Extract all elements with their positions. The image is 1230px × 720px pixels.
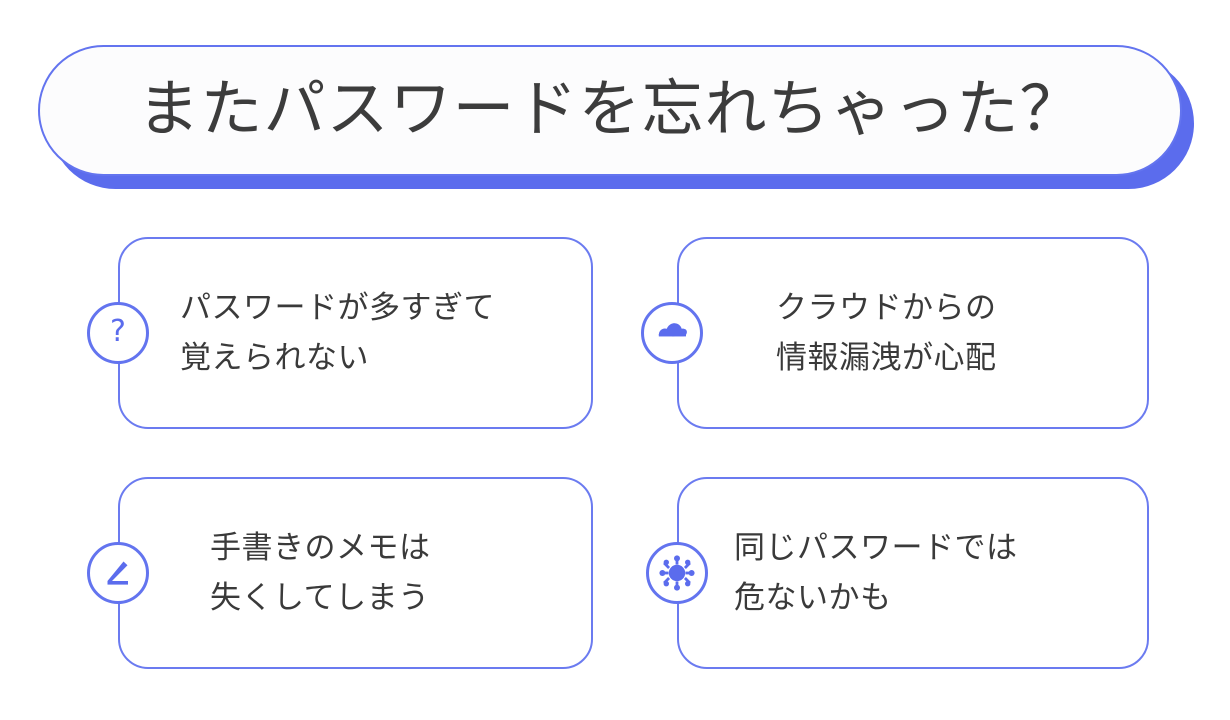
virus-icon: [646, 542, 708, 604]
virus-icon-shape: [659, 555, 695, 591]
pain-point-card-4: 同じパスワードでは 危ないかも: [677, 477, 1149, 669]
pencil-icon-shape: [102, 557, 134, 589]
pain-point-card-2-label: クラウドからの 情報漏洩が心配: [679, 283, 997, 383]
pencil-icon: [87, 542, 149, 604]
pain-point-card-3: 手書きのメモは 失くしてしまう: [118, 477, 593, 669]
pain-point-card-4-label: 同じパスワードでは 危ないかも: [679, 523, 1018, 623]
cloud-icon: [641, 302, 703, 364]
pain-point-card-2: クラウドからの 情報漏洩が心配: [677, 237, 1149, 429]
pain-point-card-3-label: 手書きのメモは 失くしてしまう: [120, 523, 431, 623]
pain-point-card-1: パスワードが多すぎて 覚えられない: [118, 237, 593, 429]
page-title: またパスワードを忘れちゃった？: [137, 78, 1082, 144]
title-banner: またパスワードを忘れちゃった？: [38, 45, 1182, 176]
cloud-icon-shape: [654, 319, 690, 347]
title-banner-pill: またパスワードを忘れちゃった？: [38, 45, 1182, 176]
question-mark-glyph: ?: [110, 317, 126, 349]
slide-canvas: またパスワードを忘れちゃった？ パスワードが多すぎて 覚えられない ? クラウド…: [0, 0, 1230, 720]
pain-point-card-1-label: パスワードが多すぎて 覚えられない: [120, 283, 495, 383]
question-mark-icon: ?: [87, 302, 149, 364]
